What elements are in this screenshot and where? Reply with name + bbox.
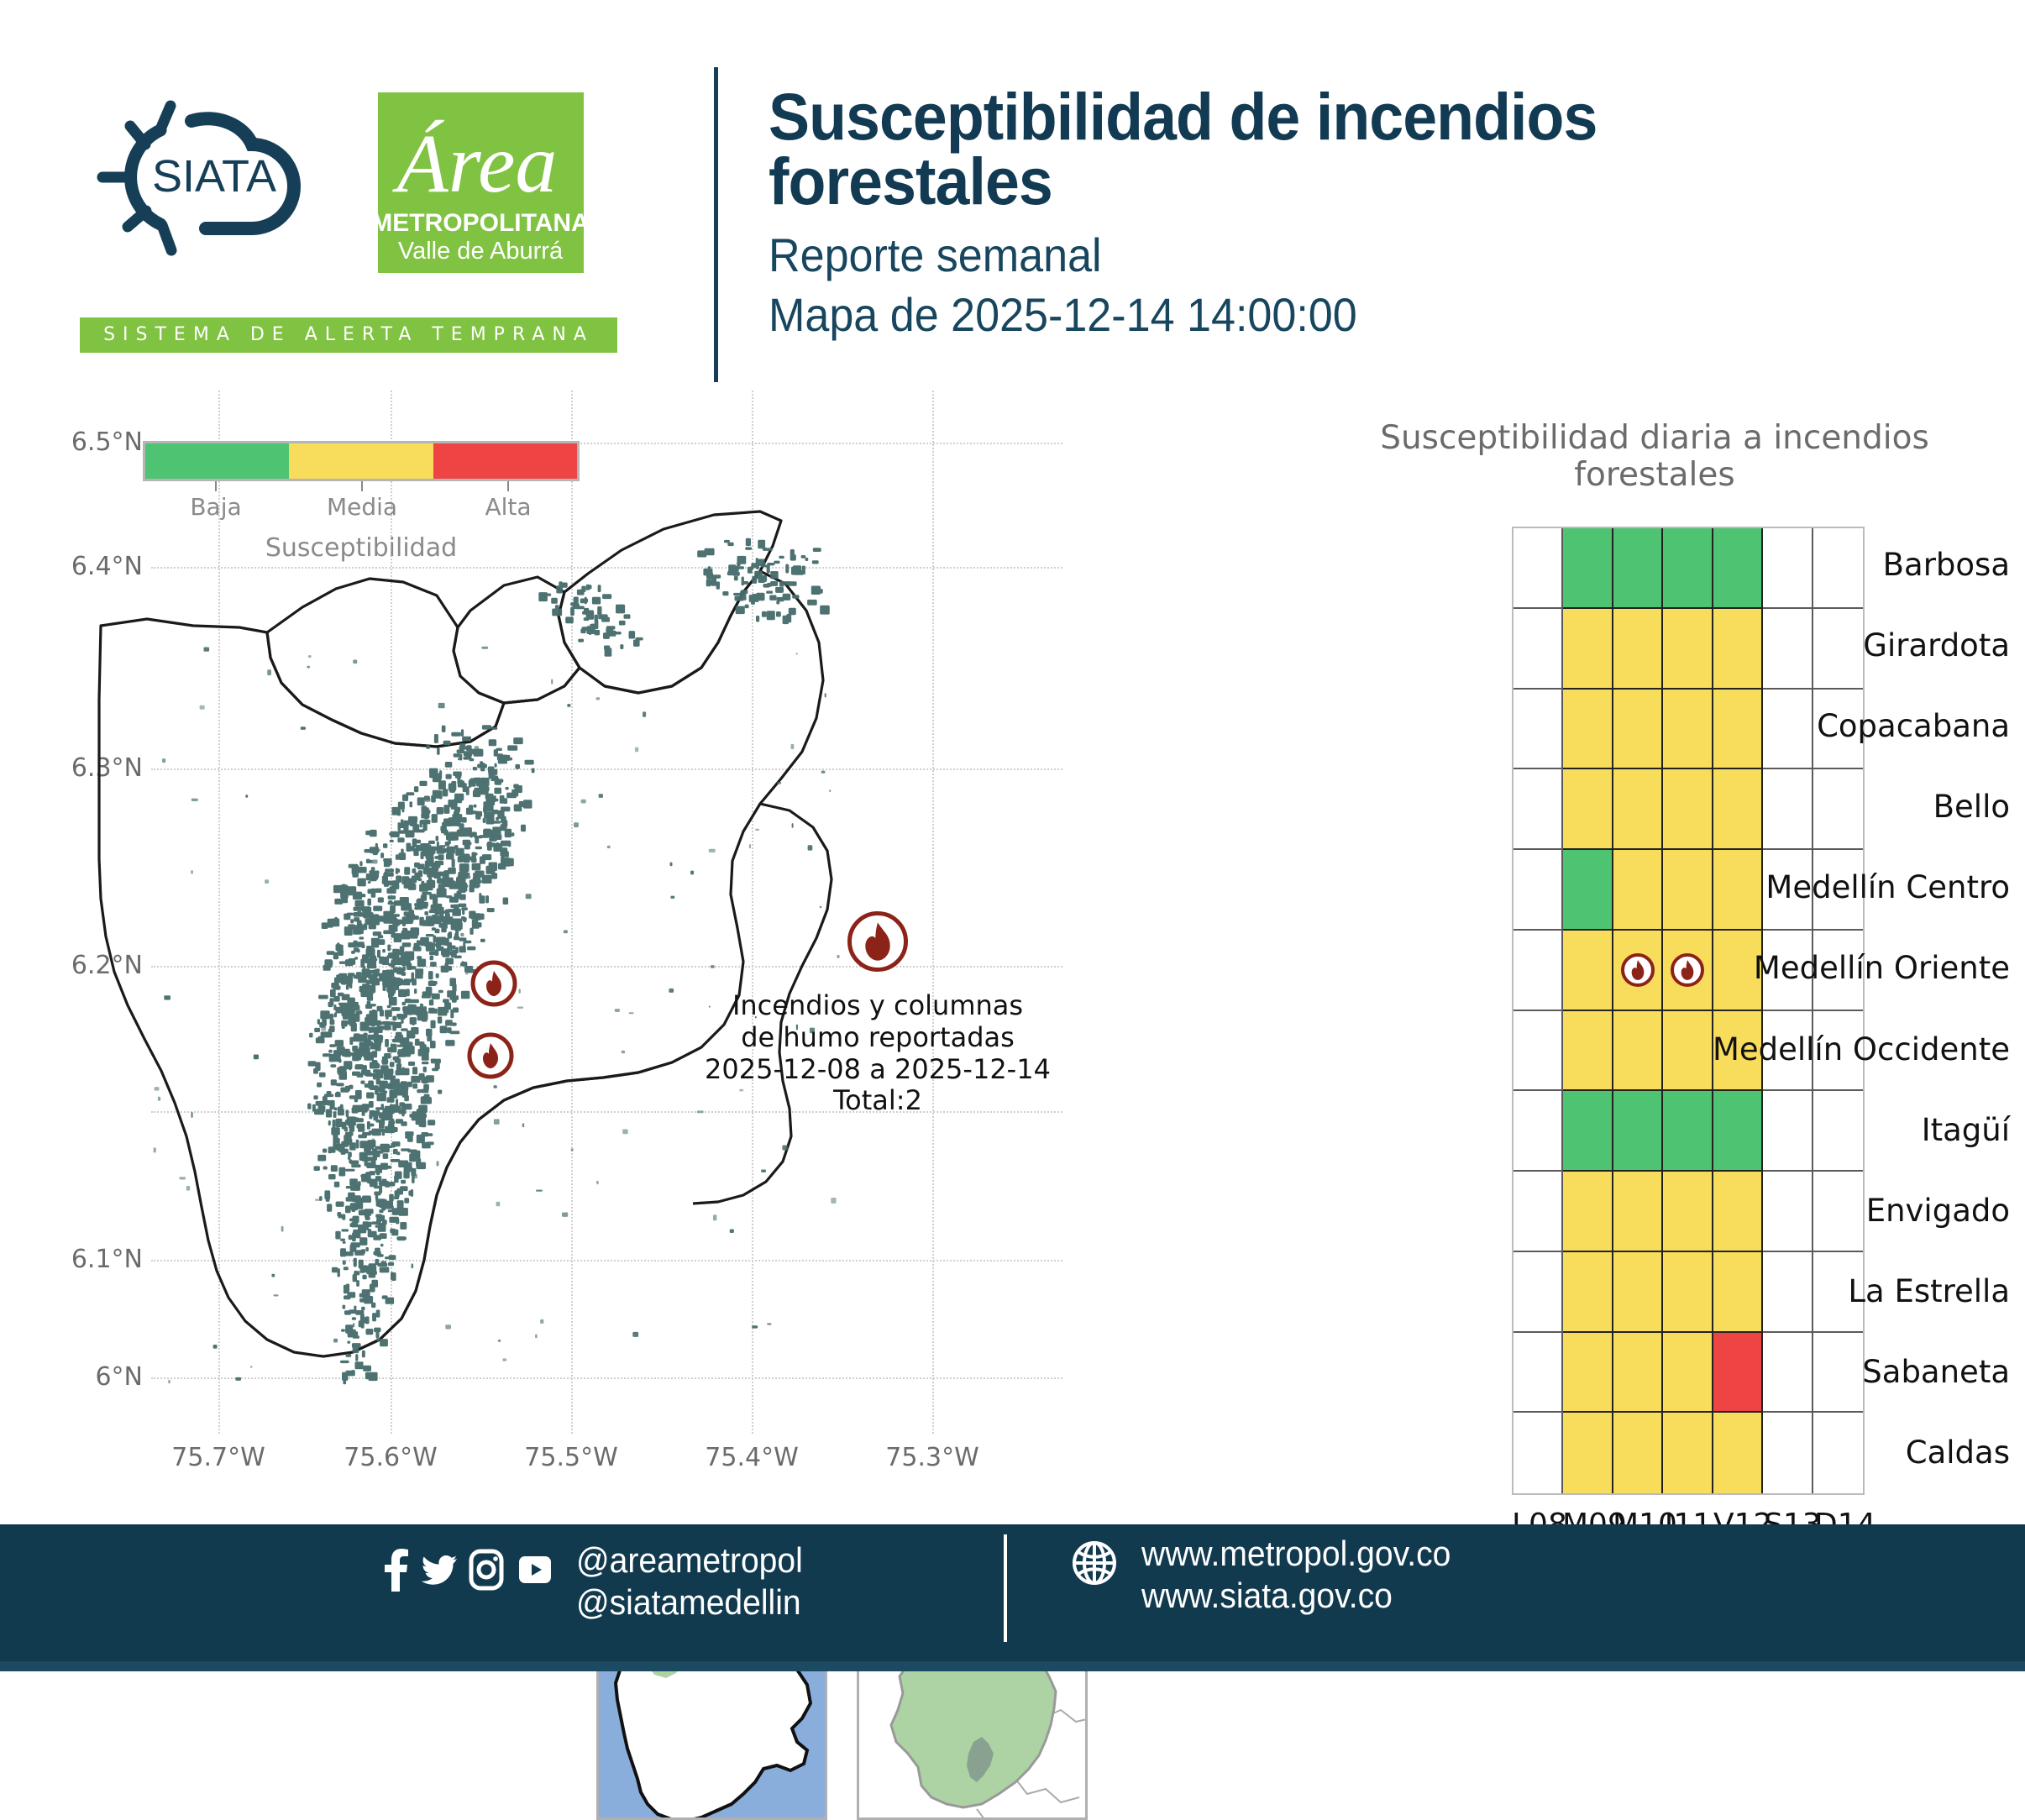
- area-metropolitana-logo: Área METROPOLITANA Valle de Aburrá: [378, 92, 584, 273]
- svg-text:SIATA: SIATA: [152, 151, 276, 202]
- map-fire-marker-group: [470, 962, 515, 1077]
- heatmap-cell[interactable]: [1563, 690, 1613, 770]
- heatmap-panel: Susceptibilidad diaria a incendios fores…: [1159, 391, 2025, 1524]
- svg-text:Área: Área: [392, 117, 558, 210]
- handle-siatamedellin[interactable]: @siatamedellin: [576, 1581, 803, 1623]
- heatmap-cell[interactable]: [1514, 1413, 1563, 1493]
- globe-icon: [1071, 1539, 1118, 1587]
- instagram-icon[interactable]: [468, 1548, 505, 1592]
- heatmap-cell[interactable]: [1563, 850, 1613, 931]
- heatmap-row-label: Barbosa: [1689, 547, 2025, 583]
- map-panel: Baja Media Alta Susceptibilidad 6.5°N 6.…: [0, 391, 1142, 1524]
- heatmap-cell[interactable]: [1613, 931, 1663, 1011]
- social-icons: [382, 1548, 554, 1592]
- heatmap-cell[interactable]: [1613, 1091, 1663, 1172]
- svg-text:Valle de Aburrá: Valle de Aburrá: [398, 238, 564, 265]
- heatmap-row-label: Medellín Oriente: [1689, 950, 2025, 986]
- heatmap-row-label: La Estrella: [1689, 1273, 2025, 1309]
- fire-icon: [1621, 953, 1655, 987]
- page-title: Susceptibilidad de incendios forestales: [769, 84, 1862, 214]
- heatmap-grid[interactable]: [1512, 527, 1865, 1495]
- url-metropol[interactable]: www.metropol.gov.co: [1141, 1533, 1451, 1575]
- page-subtitle: Reporte semanal: [769, 228, 1862, 282]
- heatmap-cell[interactable]: [1514, 1333, 1563, 1414]
- heatmap-row-label: Bello: [1689, 789, 2025, 825]
- heatmap-row-label: Itagüí: [1689, 1112, 2025, 1148]
- heatmap-cell[interactable]: [1613, 690, 1663, 770]
- heatmap-cell[interactable]: [1613, 1413, 1663, 1493]
- heatmap-cell[interactable]: [1613, 1252, 1663, 1333]
- heatmap-cell[interactable]: [1613, 1011, 1663, 1092]
- heatmap-cell[interactable]: [1514, 690, 1563, 770]
- heatmap-cell[interactable]: [1563, 1333, 1613, 1414]
- footer-urls: www.metropol.gov.co www.siata.gov.co: [1141, 1533, 1451, 1616]
- heatmap-cell[interactable]: [1613, 1172, 1663, 1252]
- heatmap-row-label: Medellín Centro: [1689, 869, 2025, 905]
- heatmap-cell[interactable]: [1514, 528, 1563, 609]
- heatmap-cell[interactable]: [1613, 1333, 1663, 1414]
- heatmap-cell[interactable]: [1514, 1011, 1563, 1092]
- heatmap-cell[interactable]: [1563, 1091, 1613, 1172]
- heatmap-cell[interactable]: [1514, 769, 1563, 850]
- heatmap-cell[interactable]: [1613, 850, 1663, 931]
- fire-legend-text: Incendios y columnas de humo reportadas …: [672, 990, 1083, 1117]
- title-block: Susceptibilidad de incendios forestales …: [769, 84, 1944, 342]
- heatmap-cell[interactable]: [1563, 1172, 1613, 1252]
- page-header: SIATA Área METROPOLITANA Valle de Aburrá…: [0, 0, 2025, 391]
- svg-text:METROPOLITANA: METROPOLITANA: [378, 209, 584, 237]
- handle-areametropol[interactable]: @areametropol: [576, 1539, 803, 1581]
- heatmap-row-label: Sabaneta: [1689, 1354, 2025, 1390]
- header-divider: [714, 67, 718, 382]
- heatmap-row-label: Envigado: [1689, 1193, 2025, 1229]
- heatmap-cell[interactable]: [1563, 769, 1613, 850]
- heatmap-cell[interactable]: [1563, 931, 1613, 1011]
- fire-legend: Incendios y columnas de humo reportadas …: [672, 911, 1083, 1117]
- heatmap-cell[interactable]: [1563, 1011, 1613, 1092]
- map-date: Mapa de 2025-12-14 14:00:00: [769, 287, 1862, 342]
- heatmap-title: Susceptibilidad diaria a incendios fores…: [1302, 420, 2007, 493]
- heatmap-cell[interactable]: [1563, 1252, 1613, 1333]
- heatmap-cell[interactable]: [1563, 609, 1613, 690]
- heatmap-row-label: Caldas: [1689, 1434, 2025, 1471]
- twitter-icon[interactable]: [422, 1548, 457, 1592]
- social-handles: @areametropol @siatamedellin: [576, 1539, 803, 1623]
- heatmap-cell[interactable]: [1563, 1413, 1613, 1493]
- heatmap-cell[interactable]: [1514, 1091, 1563, 1172]
- heatmap-cell[interactable]: [1563, 528, 1613, 609]
- heatmap-row-label: Copacabana: [1689, 708, 2025, 744]
- heatmap-cell[interactable]: [1613, 769, 1663, 850]
- heatmap-cell[interactable]: [1514, 609, 1563, 690]
- heatmap-cell[interactable]: [1514, 850, 1563, 931]
- facebook-icon[interactable]: [382, 1548, 411, 1592]
- heatmap-row-label: Medellín Occidente: [1689, 1031, 2025, 1067]
- footer-divider: [1004, 1534, 1007, 1642]
- fire-icon: [847, 911, 908, 972]
- siata-banner-text: SISTEMA DE ALERTA TEMPRANA: [80, 317, 617, 353]
- page-footer: @areametropol @siatamedellin www.metropo…: [0, 1524, 2025, 1671]
- heatmap-cell[interactable]: [1613, 609, 1663, 690]
- heatmap-row-label: Girardota: [1689, 627, 2025, 663]
- heatmap-cell[interactable]: [1514, 1252, 1563, 1333]
- heatmap-cell[interactable]: [1613, 528, 1663, 609]
- youtube-icon[interactable]: [516, 1548, 554, 1592]
- siata-logo: SIATA: [80, 92, 357, 273]
- footer-bottom-strip: [0, 1661, 2025, 1671]
- url-siata[interactable]: www.siata.gov.co: [1141, 1575, 1451, 1617]
- heatmap-cell[interactable]: [1514, 1172, 1563, 1252]
- siata-banner: SISTEMA DE ALERTA TEMPRANA: [80, 317, 617, 353]
- heatmap-cell[interactable]: [1514, 931, 1563, 1011]
